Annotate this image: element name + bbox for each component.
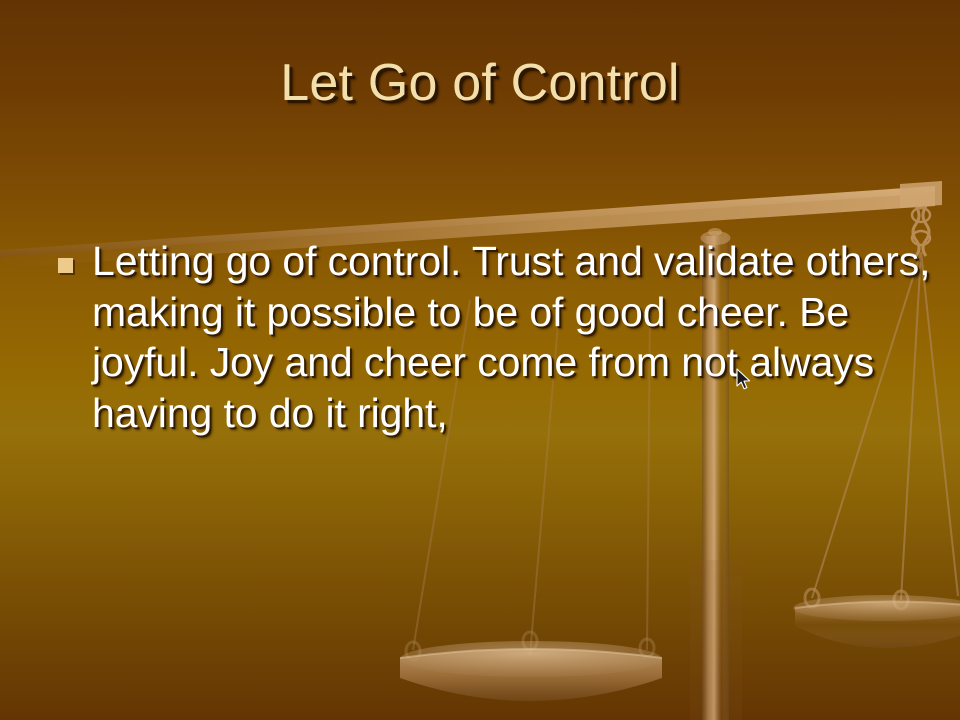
scales-pan-left: [400, 641, 662, 701]
presentation-slide: Let Go of Control Letting go of control.…: [0, 0, 960, 720]
slide-title-text: Let Go of Control: [280, 54, 679, 112]
bullet-item: Letting go of control. Trust and validat…: [58, 236, 934, 438]
scales-hooks-left: [406, 632, 654, 660]
slide-title: Let Go of Control: [0, 54, 960, 112]
scales-pan-right: [793, 595, 960, 648]
slide-body: Letting go of control. Trust and validat…: [58, 236, 934, 438]
arrow-cursor-icon: [736, 368, 752, 392]
square-bullet-icon: [58, 258, 73, 273]
scales-hooks-right: [805, 589, 908, 609]
bullet-item-text: Letting go of control. Trust and validat…: [92, 236, 934, 438]
